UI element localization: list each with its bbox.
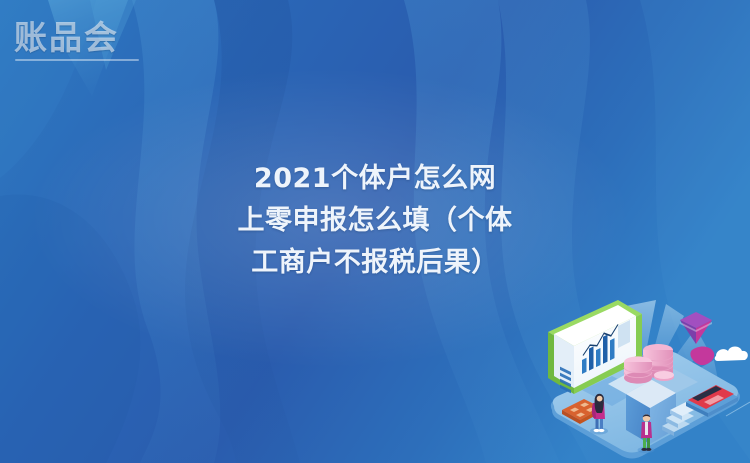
isometric-finance-illustration (530, 298, 750, 463)
page-title-line-2: 上零申报怎么填（个体 (0, 200, 750, 242)
page-title-line-1: 2021个体户怎么网 (0, 158, 750, 200)
brand-logo[interactable]: 账品会 (14, 18, 140, 62)
cloud-icon (715, 347, 748, 362)
brand-logo-underline (15, 59, 139, 61)
page-title: 2021个体户怎么网 上零申报怎么填（个体 工商户不报税后果） (0, 158, 750, 284)
banner-canvas: 账品会 2021个体户怎么网 上零申报怎么填（个体 工商户不报税后果） (0, 0, 750, 463)
page-title-line-3: 工商户不报税后果） (0, 242, 750, 284)
diamond-gem-icon (680, 312, 712, 344)
brand-logo-text: 账品会 (14, 18, 140, 58)
